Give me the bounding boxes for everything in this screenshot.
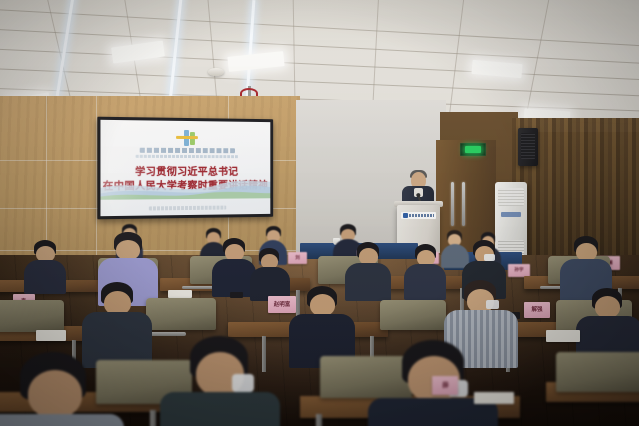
face-mask-icon	[232, 374, 254, 392]
slide-wave-graphic	[100, 173, 270, 200]
desk-leg	[150, 410, 156, 426]
door-handle[interactable]	[451, 182, 454, 226]
running-man-exit-icon	[465, 146, 481, 153]
desk-leg	[316, 414, 322, 426]
name-placard: 刘	[288, 252, 307, 264]
face-mask-icon	[484, 254, 495, 261]
name-placard: 解强	[524, 302, 550, 318]
name-placard-text: 解强	[531, 307, 542, 313]
chair[interactable]	[320, 356, 412, 398]
ac-brand-badge	[501, 212, 521, 217]
institution-wordmark	[139, 148, 234, 153]
ceiling-panel-light	[227, 51, 284, 72]
exit-sign	[460, 143, 486, 156]
smoke-detector-icon	[208, 68, 224, 76]
projection-screen-surface: 学习贯彻习近平总书记 在中国人民大学考察时重要讲话精神	[100, 120, 270, 216]
institution-logo-icon	[175, 130, 201, 146]
document-paper	[474, 392, 514, 404]
podium-nameplate	[401, 212, 436, 219]
conference-room-photo: 学习贯彻习近平总书记 在中国人民大学考察时重要讲话精神	[0, 0, 639, 426]
mobile-phone[interactable]	[230, 292, 243, 298]
wall-speaker	[518, 128, 538, 166]
slide-footer-text	[148, 206, 225, 211]
ceiling-panel-light	[471, 60, 522, 78]
face-mask-icon	[486, 300, 499, 309]
name-placard-text: 孙宇	[514, 268, 523, 273]
desk-leg	[262, 336, 266, 372]
institution-wordmark-latin	[135, 155, 238, 158]
chair[interactable]	[380, 300, 446, 330]
door-handle[interactable]	[462, 182, 465, 226]
podium-emblem-icon	[403, 213, 408, 218]
projection-screen[interactable]: 学习贯彻习近平总书记 在中国人民大学考察时重要讲话精神	[97, 117, 273, 220]
name-placard-text: 刘	[295, 256, 300, 261]
chair[interactable]	[146, 298, 216, 330]
document-paper	[36, 330, 66, 341]
podium-nameplate-text	[409, 214, 434, 217]
name-placard: 赵明富	[268, 296, 296, 313]
ceiling-panel-light	[111, 40, 165, 63]
document-paper	[168, 290, 192, 298]
document-paper	[546, 330, 580, 342]
chair[interactable]	[0, 300, 64, 332]
ac-vent-icon	[498, 188, 524, 206]
name-placard-text: 赵明富	[274, 302, 291, 308]
chair[interactable]	[556, 352, 639, 392]
name-placard-text: 薛	[442, 382, 448, 388]
name-placard: 薛	[432, 376, 458, 395]
